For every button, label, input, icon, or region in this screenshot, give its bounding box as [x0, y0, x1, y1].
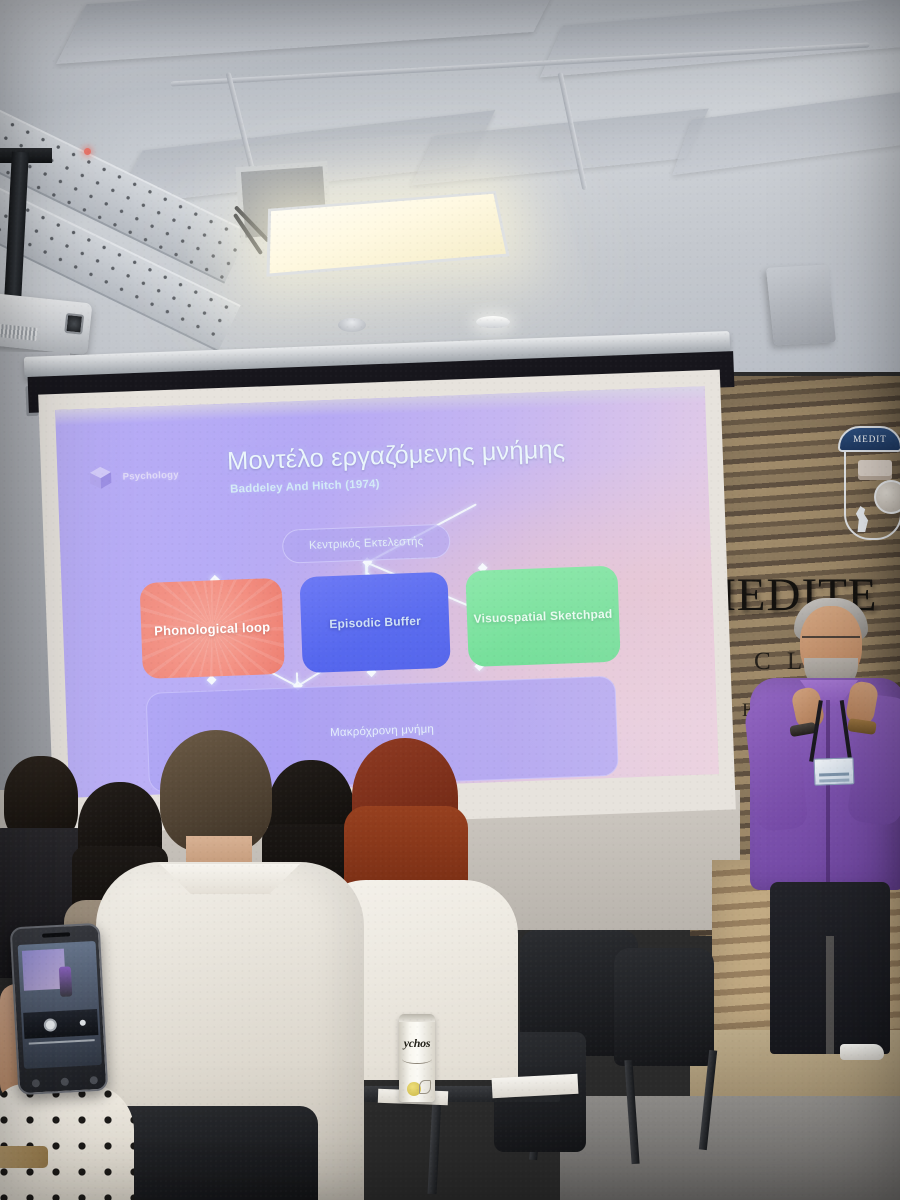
- recents-button-icon[interactable]: [90, 1076, 98, 1084]
- polka-dot-sleeve: [0, 1084, 134, 1200]
- drink-can: ychos: [399, 1014, 435, 1102]
- crest-banner: MEDIT: [838, 426, 900, 452]
- can-lid: [399, 1014, 435, 1022]
- brand-label: Psychology: [122, 469, 179, 482]
- can-label: ychos: [401, 1036, 433, 1051]
- viewfinder-timeline[interactable]: [29, 1039, 95, 1044]
- indicator-led: [84, 148, 91, 155]
- diagram-box-visuospatial-sketchpad: Visuospatial Sketchpad: [465, 566, 620, 668]
- recessed-downlight: [476, 316, 510, 328]
- phone-earpiece: [42, 932, 70, 937]
- cube-icon: [87, 464, 114, 491]
- crest-shield: [844, 448, 900, 540]
- slide-brand: Psychology: [87, 462, 179, 491]
- diagram-box-episodic-buffer: Episodic Buffer: [299, 572, 450, 673]
- diagram-box-phonological-loop: Phonological loop: [140, 578, 285, 679]
- slide-subtitle: Baddeley And Hitch (1974): [230, 478, 380, 495]
- viewfinder-presenter: [59, 966, 73, 997]
- wrist-bangle: [0, 1146, 48, 1168]
- ceiling-beam: [56, 0, 564, 64]
- crest-column-icon: [858, 460, 892, 480]
- phone-nav-buttons[interactable]: [32, 1075, 98, 1087]
- shutter-button[interactable]: [43, 1018, 57, 1032]
- projector-vent: [0, 323, 38, 341]
- leaf-icon: [419, 1080, 431, 1094]
- lecture-hall-photo: MEDITE C L E MEDIT Psychology Μοντέλο ερ…: [0, 0, 900, 1200]
- desk-leg: [427, 1098, 441, 1194]
- projector-lens: [64, 313, 84, 335]
- back-button-icon[interactable]: [32, 1079, 40, 1087]
- glasses-icon: [802, 636, 860, 648]
- crest-figure-icon: [854, 506, 870, 532]
- smartphone[interactable]: [10, 923, 109, 1095]
- ceiling-beam: [540, 0, 900, 77]
- presenter-shoe: [840, 1044, 884, 1060]
- presenter: [744, 596, 900, 1056]
- crest-orb-icon: [874, 480, 900, 514]
- leg-gap: [826, 936, 834, 1054]
- ceiling-beam: [672, 81, 900, 175]
- venue-crest-emblem: MEDIT: [836, 424, 900, 542]
- audience-member-head: [160, 730, 272, 852]
- floor: [560, 1096, 900, 1200]
- chair: [614, 948, 714, 1066]
- diagram-node-central-executive: Κεντρικός Εκτελεστής: [282, 524, 451, 564]
- presenter-shirt-placket: [826, 700, 830, 890]
- diagram-box-row: Phonological loop Episodic Buffer Visuos…: [140, 566, 613, 683]
- gallery-thumb-icon[interactable]: [80, 1020, 86, 1026]
- phone-screen[interactable]: [18, 941, 102, 1069]
- home-button-icon[interactable]: [61, 1077, 69, 1085]
- can-swoosh-graphic: [402, 1054, 432, 1064]
- ceiling-projector: [0, 293, 92, 356]
- wall-speaker: [766, 265, 836, 346]
- camera-controls-bar[interactable]: [23, 1009, 98, 1039]
- slide-title: Μοντέλο εργαζόμενης μνήμης: [227, 432, 658, 477]
- presentation-slide: Psychology Μοντέλο εργαζόμενης μνήμης Ba…: [55, 386, 719, 798]
- id-badge: [814, 757, 855, 785]
- smoke-detector-icon: [338, 318, 366, 332]
- ceiling: [0, 0, 900, 372]
